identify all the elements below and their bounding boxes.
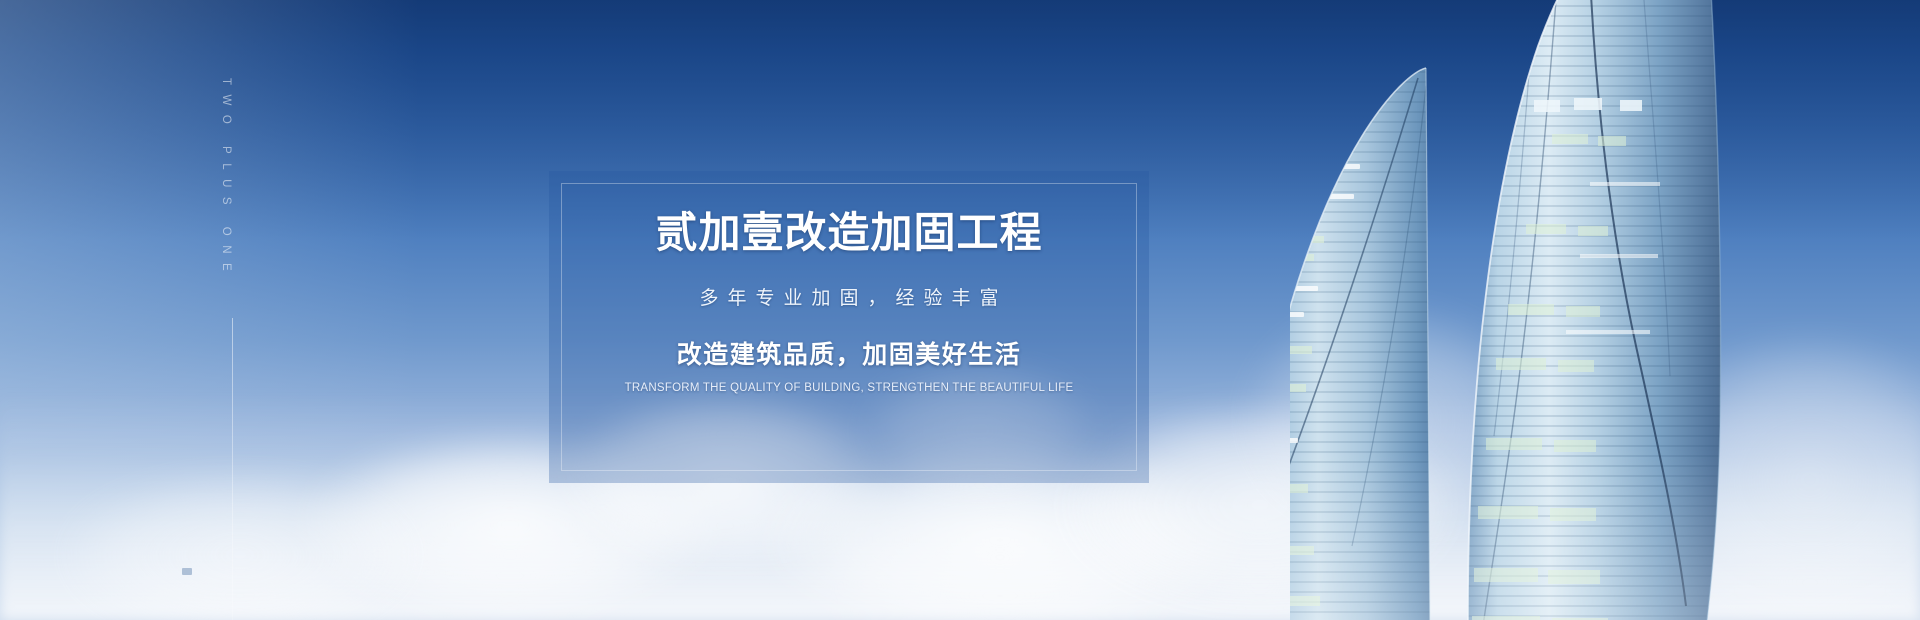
skyscraper-illustration bbox=[1290, 0, 1920, 620]
tower-right bbox=[1460, 0, 1730, 620]
hero-banner: TWO PLUS ONE 贰加壹改造加固工程 多年专业加固，经验丰富 改造建筑品… bbox=[0, 0, 1920, 620]
headline-panel-content: 贰加壹改造加固工程 多年专业加固，经验丰富 改造建筑品质，加固美好生活 TRAN… bbox=[561, 183, 1137, 471]
page-slogan-english: TRANSFORM THE QUALITY OF BUILDING, STREN… bbox=[625, 382, 1074, 394]
sky-left-haze bbox=[0, 0, 420, 620]
page-subtitle: 多年专业加固，经验丰富 bbox=[690, 283, 1007, 310]
side-vertical-label-text: TWO PLUS ONE bbox=[220, 78, 232, 280]
side-vertical-label: TWO PLUS ONE bbox=[213, 78, 239, 310]
side-vertical-rule bbox=[232, 318, 233, 620]
page-slogan: 改造建筑品质，加固美好生活 bbox=[677, 335, 1022, 371]
page-title: 贰加壹改造加固工程 bbox=[655, 209, 1042, 256]
cloud-puff bbox=[60, 470, 420, 620]
headline-panel: 贰加壹改造加固工程 多年专业加固，经验丰富 改造建筑品质，加固美好生活 TRAN… bbox=[549, 171, 1149, 483]
side-corner-mark bbox=[182, 568, 192, 575]
